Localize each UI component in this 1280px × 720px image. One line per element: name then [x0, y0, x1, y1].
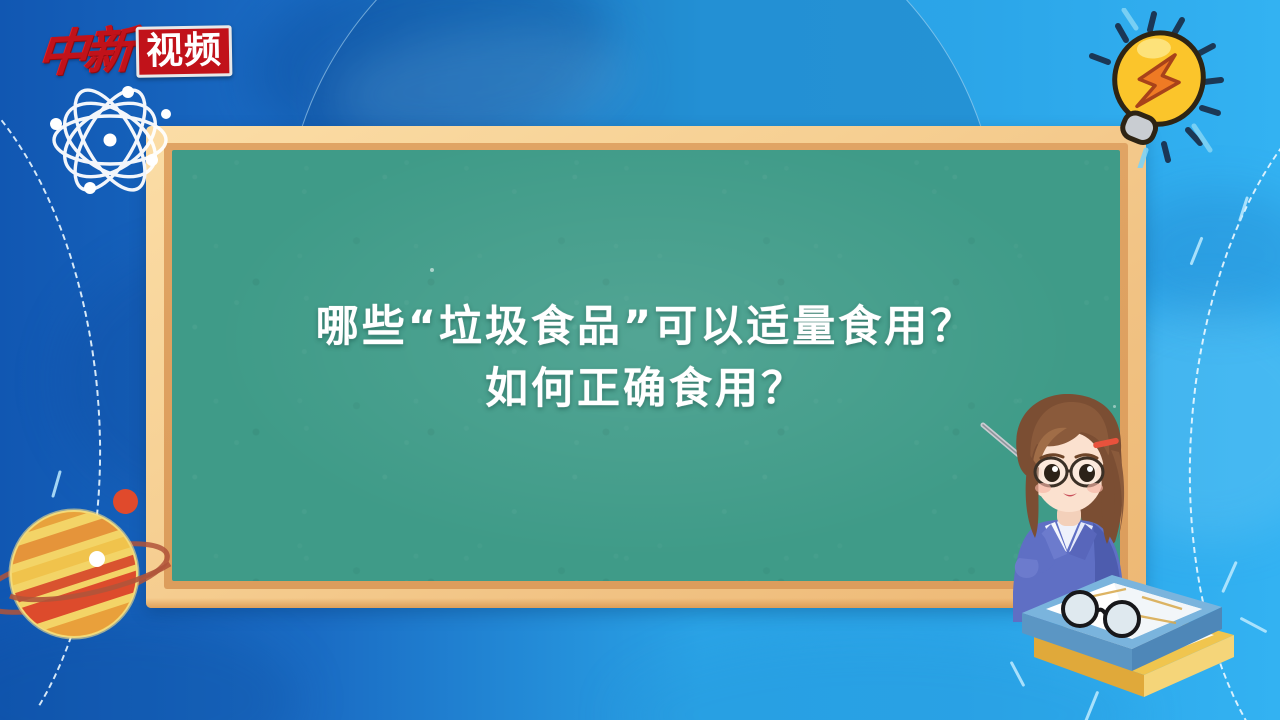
lightbulb-icon — [1058, 8, 1238, 168]
logo-badge: 视频 — [136, 25, 233, 78]
logo-script-text: 中新 — [36, 24, 139, 79]
chalk-speck — [430, 268, 434, 272]
video-frame-stage: 中新 视频 — [0, 0, 1280, 720]
red-dot-decoration — [113, 489, 138, 514]
atom-icon — [30, 62, 190, 217]
channel-logo: 中新 视频 — [38, 26, 232, 77]
book-stack — [1016, 565, 1246, 700]
planet-icon — [0, 478, 172, 658]
blackboard-line-1: 哪些“垃圾食品”可以适量食用？ — [172, 296, 1120, 358]
logo-badge-text: 视频 — [146, 31, 223, 69]
